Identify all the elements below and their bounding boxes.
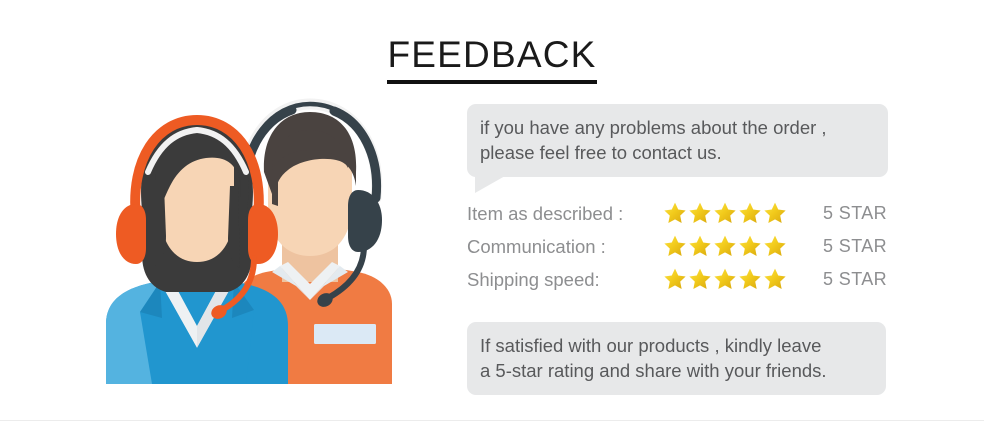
rating-row-shipping-speed: Shipping speed: 5 STAR <box>467 263 897 296</box>
customer-support-illustration <box>96 86 426 384</box>
rating-value: 5 STAR <box>823 236 887 257</box>
star-icon <box>737 201 763 226</box>
star-icon <box>687 267 713 292</box>
star-icon <box>762 201 788 226</box>
rating-value: 5 STAR <box>823 269 887 290</box>
star-icon <box>737 234 763 259</box>
rating-label: Item as described : <box>467 203 662 225</box>
star-icon <box>687 201 713 226</box>
star-icon <box>737 267 763 292</box>
bottom-message-panel: If satisfied with our products , kindly … <box>467 322 897 395</box>
review-request-bubble: If satisfied with our products , kindly … <box>467 322 886 395</box>
star-icon <box>687 234 713 259</box>
star-icon <box>712 267 738 292</box>
rating-label: Shipping speed: <box>467 269 662 291</box>
female-agent-figure <box>106 120 288 384</box>
rating-row-communication: Communication : 5 STAR <box>467 230 897 263</box>
star-icon <box>712 201 738 226</box>
feedback-banner: FEEDBACK <box>0 0 984 426</box>
page-title: FEEDBACK <box>387 36 596 84</box>
star-rating-item-as-described <box>662 201 790 226</box>
speech-bubble-tail <box>475 176 505 193</box>
top-message-panel: if you have any problems about the order… <box>467 104 897 177</box>
star-icon <box>662 201 688 226</box>
review-request-line-2: a 5-star rating and share with your frie… <box>480 358 872 383</box>
rating-value: 5 STAR <box>823 203 887 224</box>
star-icon <box>712 234 738 259</box>
star-rating-shipping-speed <box>662 267 790 292</box>
bottom-divider <box>0 420 984 421</box>
star-rating-communication <box>662 234 790 259</box>
page-title-container: FEEDBACK <box>0 36 984 84</box>
star-icon <box>662 267 688 292</box>
rating-row-item-as-described: Item as described : 5 STAR <box>467 197 897 230</box>
review-request-line-1: If satisfied with our products , kindly … <box>480 333 872 358</box>
star-icon <box>662 234 688 259</box>
contact-message-line-1: if you have any problems about the order… <box>480 115 874 140</box>
contact-message-line-2: please feel free to contact us. <box>480 140 874 165</box>
star-icon <box>762 234 788 259</box>
rating-list: Item as described : 5 STAR Communication… <box>467 197 897 296</box>
contact-message-bubble: if you have any problems about the order… <box>467 104 888 177</box>
star-icon <box>762 267 788 292</box>
rating-label: Communication : <box>467 236 662 258</box>
